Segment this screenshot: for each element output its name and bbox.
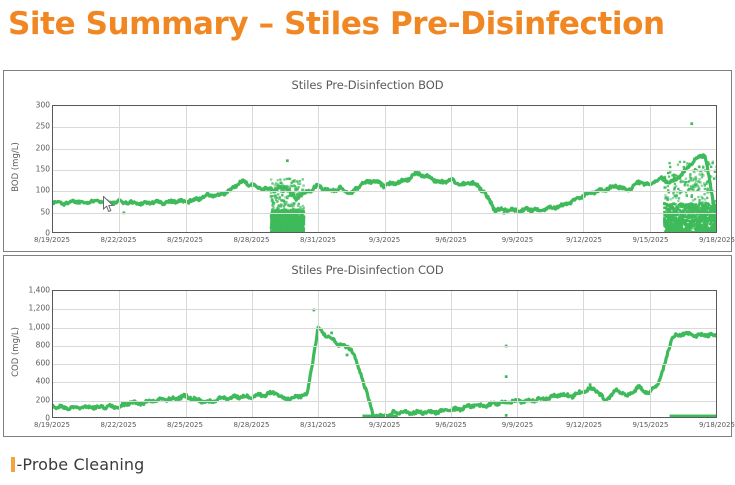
outlier-point [690, 122, 693, 125]
y-tick-label: 150 [6, 165, 50, 174]
probe-cleaning-label: -Probe Cleaning [17, 455, 145, 474]
x-tick-label: 8/22/2025 [101, 421, 137, 429]
x-tick-label: 8/28/2025 [234, 236, 270, 244]
scatter-cloud [270, 178, 306, 232]
y-tick-label: 600 [6, 359, 50, 368]
gridline-vertical [318, 291, 319, 417]
x-tick-label: 9/3/2025 [369, 421, 400, 429]
x-tick-label: 9/6/2025 [435, 421, 466, 429]
chart-card-cod[interactable]: Stiles Pre-Disinfection COD COD (mg/L) 0… [3, 255, 732, 437]
y-tick-label: 200 [6, 143, 50, 152]
chart-card-bod[interactable]: Stiles Pre-Disinfection BOD BOD (mg/L) 0… [3, 70, 732, 252]
outlier-point [286, 159, 289, 162]
scatter-cloud [663, 161, 716, 232]
x-tick-label: 9/15/2025 [633, 236, 669, 244]
outlier-point [589, 383, 592, 386]
x-tick-label: 9/12/2025 [566, 421, 602, 429]
y-tick-label: 1,400 [6, 286, 50, 295]
gridline-vertical [186, 291, 187, 417]
x-tick-label: 9/15/2025 [633, 421, 669, 429]
plot-area-cod[interactable] [52, 290, 717, 418]
gridline-vertical [517, 106, 518, 232]
x-tick-labels-cod: 8/19/20258/22/20258/25/20258/28/20258/31… [52, 421, 717, 433]
x-tick-label: 8/31/2025 [300, 421, 336, 429]
outlier-point [346, 354, 349, 357]
gridline-vertical [385, 106, 386, 232]
gridline-vertical [517, 291, 518, 417]
gridline-vertical [186, 106, 187, 232]
x-tick-label: 8/25/2025 [167, 421, 203, 429]
gridline-vertical [650, 291, 651, 417]
zero-baseline-segment [670, 415, 716, 417]
x-tick-label: 8/25/2025 [167, 236, 203, 244]
y-tick-label: 300 [6, 101, 50, 110]
y-tick-label: 800 [6, 340, 50, 349]
x-tick-label: 9/6/2025 [435, 236, 466, 244]
y-tick-label: 250 [6, 122, 50, 131]
outlier-point [505, 375, 508, 378]
probe-cleaning-legend: -Probe Cleaning [11, 455, 144, 474]
y-tick-label: 400 [6, 377, 50, 386]
gridline-vertical [583, 106, 584, 232]
page-title: Site Summary – Stiles Pre-Disinfection [8, 6, 665, 42]
outlier-point [330, 332, 333, 335]
gridline-vertical [119, 291, 120, 417]
x-tick-label: 9/18/2025 [699, 236, 735, 244]
x-tick-label: 8/19/2025 [34, 236, 70, 244]
x-tick-label: 9/12/2025 [566, 236, 602, 244]
y-tick-label: 100 [6, 186, 50, 195]
y-tick-labels-bod: 050100150200250300 [4, 105, 50, 233]
gridline-vertical [650, 106, 651, 232]
x-tick-label: 9/3/2025 [369, 236, 400, 244]
x-tick-label: 8/31/2025 [300, 236, 336, 244]
plot-area-bod[interactable] [52, 105, 717, 233]
gridline-vertical [451, 106, 452, 232]
gridline-vertical [385, 291, 386, 417]
x-tick-label: 9/9/2025 [502, 421, 533, 429]
outlier-point [505, 414, 508, 417]
chart-title-bod: Stiles Pre-Disinfection BOD [4, 78, 731, 92]
x-tick-label: 8/19/2025 [34, 421, 70, 429]
y-tick-labels-cod: 02004006008001,0001,2001,400 [4, 290, 50, 418]
gridline-vertical [451, 291, 452, 417]
x-tick-label: 9/9/2025 [502, 236, 533, 244]
zero-baseline-segment [362, 415, 397, 417]
gridline-vertical [252, 106, 253, 232]
gridline-vertical [252, 291, 253, 417]
probe-cleaning-swatch-icon [11, 457, 15, 472]
x-tick-label: 8/22/2025 [101, 236, 137, 244]
gridline-vertical [318, 106, 319, 232]
gridline-vertical [583, 291, 584, 417]
y-tick-label: 1,200 [6, 304, 50, 313]
gridline-vertical [119, 106, 120, 232]
y-tick-label: 200 [6, 395, 50, 404]
chart-title-cod: Stiles Pre-Disinfection COD [4, 263, 731, 277]
x-tick-labels-bod: 8/19/20258/22/20258/25/20258/28/20258/31… [52, 236, 717, 248]
y-tick-label: 50 [6, 207, 50, 216]
y-tick-label: 1,000 [6, 322, 50, 331]
x-tick-label: 9/18/2025 [699, 421, 735, 429]
x-tick-label: 8/28/2025 [234, 421, 270, 429]
